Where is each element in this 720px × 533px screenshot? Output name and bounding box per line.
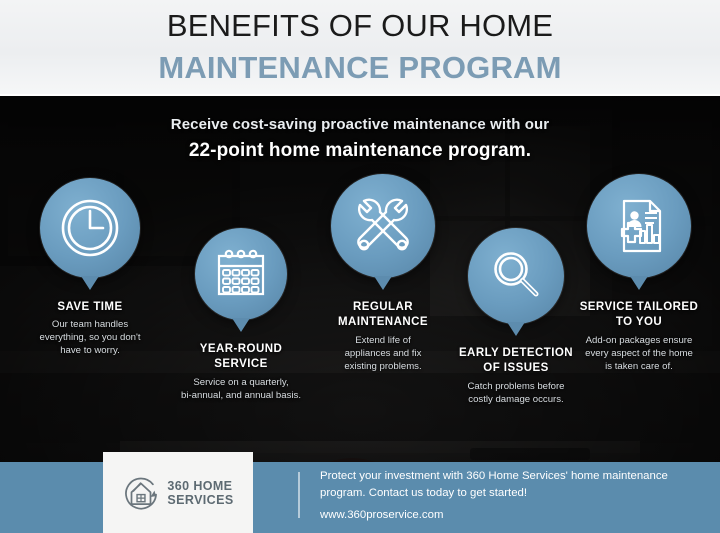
calendar-icon bbox=[195, 228, 287, 320]
magnifying-glass-icon bbox=[468, 228, 564, 324]
house-circular-arrow-icon bbox=[122, 474, 160, 512]
benefit-item-service-tailored: SERVICE TAILORED TO YOU Add-on packages … bbox=[558, 174, 720, 278]
pin-tail bbox=[374, 276, 392, 290]
benefit-item-year-round-service: YEAR-ROUND SERVICE Service on a quarterl… bbox=[160, 228, 322, 320]
benefit-description: Catch problems before costly damage occu… bbox=[430, 380, 602, 406]
brand-name-line1: 360 HOME bbox=[167, 479, 233, 493]
benefit-description: Service on a quarterly, bi-annual, and a… bbox=[160, 376, 322, 402]
benefit-title: SERVICE TAILORED TO YOU bbox=[558, 300, 720, 330]
benefit-title: YEAR-ROUND SERVICE bbox=[160, 342, 322, 372]
benefit-item-save-time: SAVE TIME Our team handles everything, s… bbox=[16, 178, 164, 278]
header-band: BENEFITS OF OUR HOME MAINTENANCE PROGRAM bbox=[0, 0, 720, 96]
crossed-wrenches-icon bbox=[331, 174, 435, 278]
footer-website-url[interactable]: www.360proservice.com bbox=[320, 509, 443, 521]
service-report-icon bbox=[587, 174, 691, 278]
clock-icon bbox=[40, 178, 140, 278]
infographic-root: BENEFITS OF OUR HOME MAINTENANCE PROGRAM bbox=[0, 0, 720, 533]
benefit-title: SAVE TIME bbox=[16, 300, 164, 315]
pin-tail bbox=[630, 276, 648, 290]
pin-tail bbox=[81, 276, 99, 290]
brand-logo: 360 HOME SERVICES bbox=[103, 452, 253, 533]
brand-name-line2: SERVICES bbox=[167, 493, 233, 507]
footer-divider bbox=[298, 472, 300, 518]
hero-subtitle-line1: Receive cost-saving proactive maintenanc… bbox=[0, 116, 720, 133]
footer-call-to-action: Protect your investment with 360 Home Se… bbox=[320, 468, 705, 501]
benefit-description: Our team handles everything, so you don'… bbox=[16, 318, 164, 357]
pin-tail bbox=[507, 322, 525, 336]
pin-tail bbox=[232, 318, 250, 332]
hero-subtitle-line2: 22-point home maintenance program. bbox=[0, 140, 720, 162]
benefit-description: Add-on packages ensure every aspect of t… bbox=[558, 334, 720, 373]
page-title-line2: MAINTENANCE PROGRAM bbox=[0, 50, 720, 86]
page-title-line1: BENEFITS OF OUR HOME bbox=[0, 8, 720, 44]
